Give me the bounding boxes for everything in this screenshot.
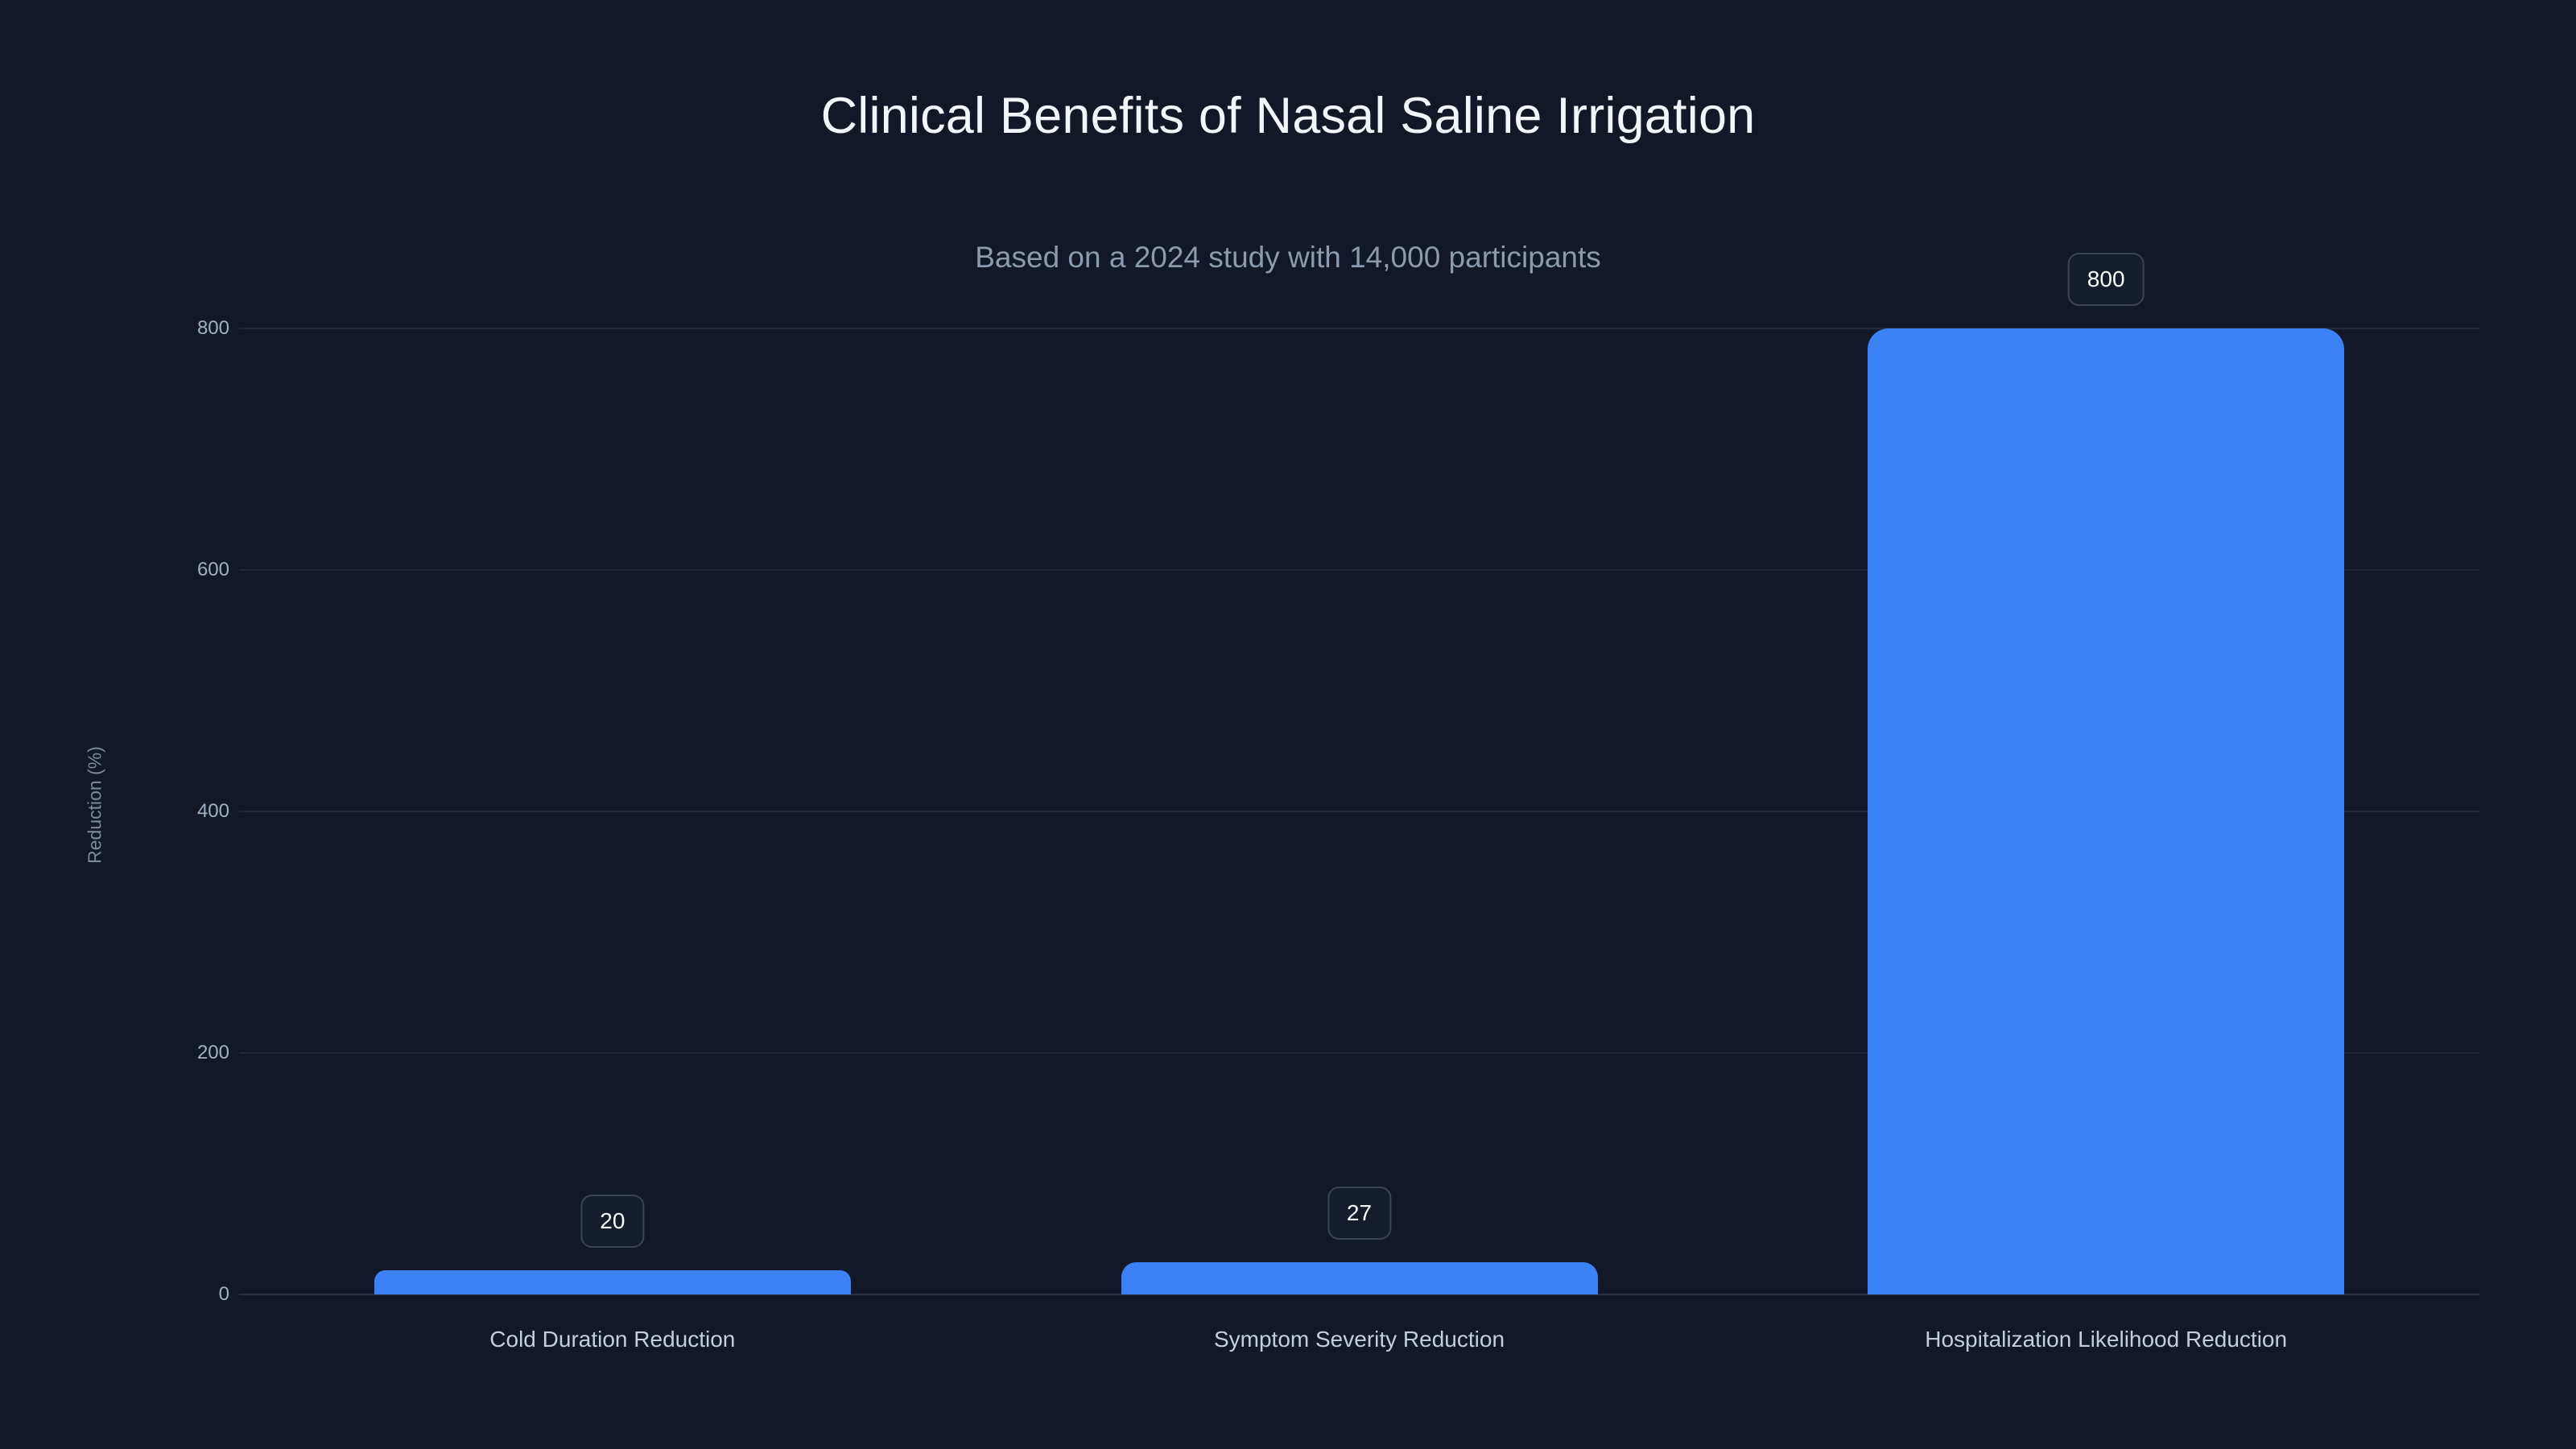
y-axis-tick-label: 400	[191, 800, 229, 823]
y-axis-tick-label: 200	[191, 1042, 229, 1064]
y-axis-tick-label: 800	[191, 317, 229, 340]
bar[interactable]	[1121, 1262, 1598, 1295]
bar-value-badge: 800	[2068, 253, 2145, 306]
x-axis-category-label: Hospitalization Likelihood Reduction	[1925, 1327, 2287, 1352]
bar-value-badge: 27	[1327, 1187, 1391, 1240]
bar-chart: Clinical Benefits of Nasal Saline Irriga…	[0, 0, 2576, 1449]
bar[interactable]	[374, 1270, 851, 1294]
chart-title: Clinical Benefits of Nasal Saline Irriga…	[0, 89, 2576, 144]
y-axis-title: Reduction (%)	[85, 746, 106, 864]
x-axis-category-label: Symptom Severity Reduction	[1214, 1327, 1505, 1352]
x-axis-category-label: Cold Duration Reduction	[489, 1327, 735, 1352]
plot-area: 02004006008002027800	[239, 328, 2479, 1294]
y-axis-tick-label: 600	[191, 559, 229, 581]
y-axis-tick-label: 0	[191, 1283, 229, 1306]
bar-value-badge: 20	[580, 1195, 644, 1248]
chart-subtitle: Based on a 2024 study with 14,000 partic…	[0, 242, 2576, 275]
bar[interactable]	[1868, 328, 2344, 1294]
